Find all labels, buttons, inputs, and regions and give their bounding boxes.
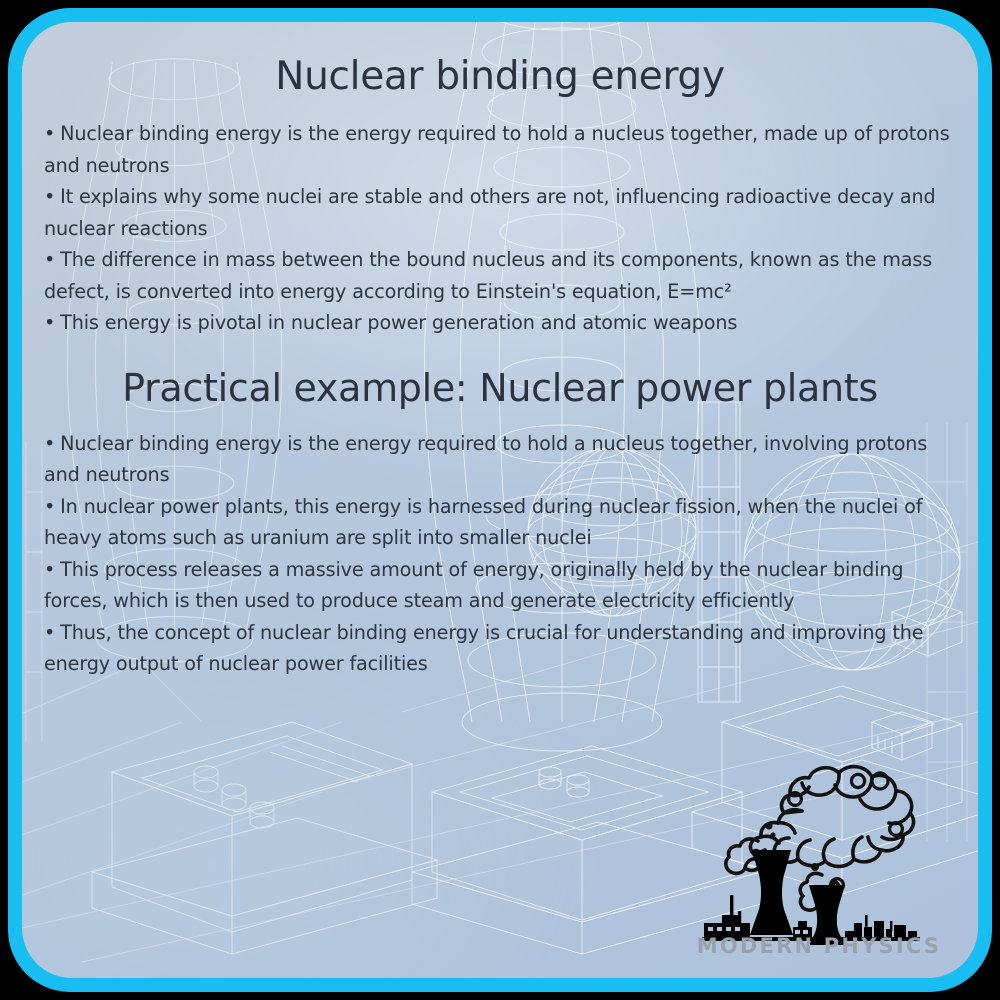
- section-title-practical-example: Practical example: Nuclear power plants: [38, 339, 962, 411]
- nuclear-power-plant-icon: [694, 745, 944, 945]
- bullet-list-section-1: •Nuclear binding energy is the energy re…: [38, 118, 962, 339]
- bullet-text: The difference in mass between the bound…: [44, 248, 932, 303]
- bullet-marker-icon: •: [44, 495, 55, 518]
- bullet-marker-icon: •: [44, 311, 55, 334]
- bullet-marker-icon: •: [44, 432, 55, 455]
- slide-root: Nuclear binding energy •Nuclear binding …: [0, 0, 1000, 1000]
- bullet-text: It explains why some nuclei are stable a…: [44, 185, 936, 240]
- bullet-text: Nuclear binding energy is the energy req…: [44, 432, 927, 487]
- bullet-text: This energy is pivotal in nuclear power …: [60, 311, 737, 334]
- bullet-text: In nuclear power plants, this energy is …: [44, 495, 922, 550]
- bullet-text: Nuclear binding energy is the energy req…: [44, 122, 950, 177]
- bullet-item: •The difference in mass between the boun…: [44, 244, 956, 307]
- bullet-text: Thus, the concept of nuclear binding ene…: [44, 621, 923, 676]
- bullet-text: This process releases a massive amount o…: [44, 558, 903, 613]
- logo-wordmark: MODERN PHYSICS: [694, 934, 944, 958]
- bullet-marker-icon: •: [44, 122, 55, 145]
- bullet-item: •This energy is pivotal in nuclear power…: [44, 307, 956, 339]
- slide-content: Nuclear binding energy •Nuclear binding …: [22, 22, 978, 978]
- bullet-marker-icon: •: [44, 621, 55, 644]
- bullet-marker-icon: •: [44, 248, 55, 271]
- bullet-list-section-2: •Nuclear binding energy is the energy re…: [38, 428, 962, 680]
- bullet-item: •Nuclear binding energy is the energy re…: [44, 428, 956, 491]
- bullet-item: •It explains why some nuclei are stable …: [44, 181, 956, 244]
- brand-logo: MODERN PHYSICS: [694, 745, 944, 960]
- bullet-item: •This process releases a massive amount …: [44, 554, 956, 617]
- bullet-marker-icon: •: [44, 558, 55, 581]
- bullet-item: •Nuclear binding energy is the energy re…: [44, 118, 956, 181]
- bullet-item: •In nuclear power plants, this energy is…: [44, 491, 956, 554]
- page-title: Nuclear binding energy: [38, 22, 962, 100]
- slide-canvas: Nuclear binding energy •Nuclear binding …: [22, 22, 978, 978]
- bullet-item: •Thus, the concept of nuclear binding en…: [44, 617, 956, 680]
- bullet-marker-icon: •: [44, 185, 55, 208]
